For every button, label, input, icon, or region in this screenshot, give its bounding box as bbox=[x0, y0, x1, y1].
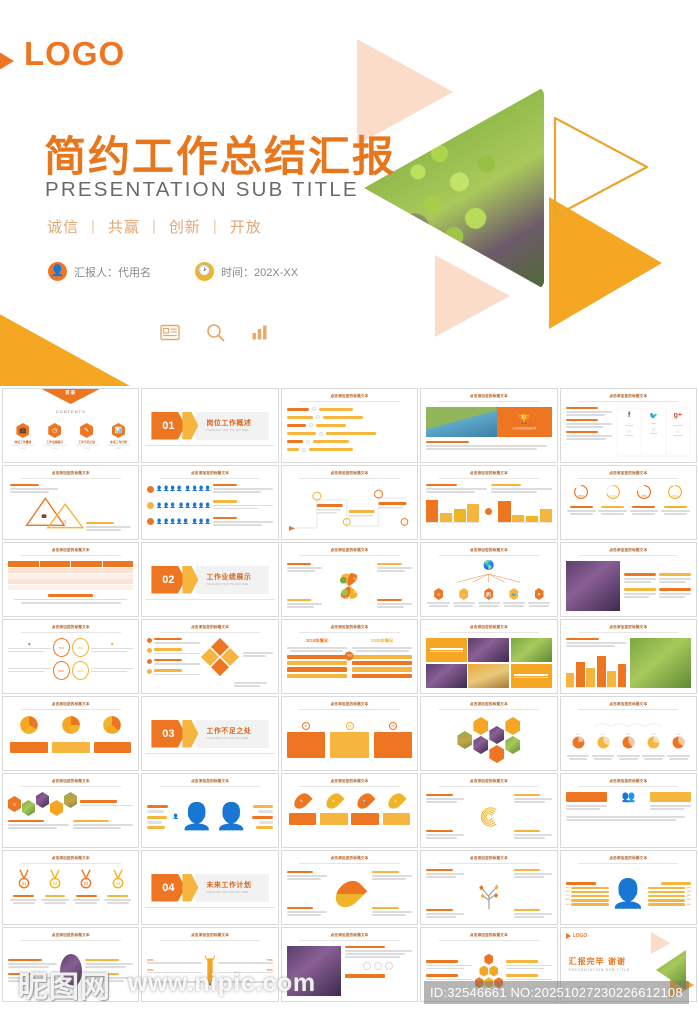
body-compare: 👤 👤 👤 bbox=[147, 792, 272, 842]
thumb-hex-stair[interactable]: 点击添加您的标题文本 ☰ bbox=[2, 773, 139, 848]
section-title: 未来工作计划 bbox=[206, 880, 268, 890]
hero-slide: LOGO 简约工作总结汇报 PRESENTATION SUB TITLE 诚信 … bbox=[0, 0, 699, 386]
search-icon bbox=[206, 323, 225, 342]
fan-connectors bbox=[426, 574, 551, 583]
thumb-oval-percents[interactable]: 点击添加您的标题文本 ▼ 71% 15% ▼ 50% 60% bbox=[2, 619, 139, 694]
section-panel: 工作业绩展示 PLEASE ADD YOUR TITLE TEXT HERE bbox=[196, 566, 268, 594]
pale-triangle-bottom bbox=[435, 255, 510, 337]
divider-rule bbox=[145, 445, 274, 446]
percent-label: 54% bbox=[687, 895, 691, 897]
grape-bullets bbox=[566, 561, 691, 611]
thumb-table[interactable]: 点击添加您的标题文本 bbox=[2, 542, 139, 617]
spiral-diagram bbox=[426, 792, 551, 842]
thumb-globe-fan[interactable]: 点击添加您的标题文本 🌎 ☰ ☼ 📊 🐦 ⚑ bbox=[420, 542, 557, 617]
year-timeline: 2016 2017 2018 2019 2020 bbox=[566, 715, 691, 765]
toc-items: 💼 岗位工作概述 PLEASE ADD YOUR TEXT HERE ◷ 工作业… bbox=[7, 423, 134, 450]
chart-icon: 📊 bbox=[112, 423, 125, 438]
toc-banner-label: 目录 bbox=[65, 390, 76, 404]
percent-label: 50% bbox=[566, 904, 570, 906]
slogan-1: 诚信 bbox=[47, 216, 79, 237]
grape-photo bbox=[566, 561, 620, 611]
thumb-grape-text[interactable]: 点击添加您的标题文本 bbox=[281, 927, 418, 1002]
svg-text:🛒: 🛒 bbox=[63, 519, 68, 524]
toc-item[interactable]: ◷ 工作业绩展示 PLEASE ADD YOUR TEXT HERE bbox=[41, 423, 69, 450]
toc-item[interactable]: ✎ 工作不足之处 PLEASE ADD YOUR TEXT HERE bbox=[73, 423, 101, 450]
hex-pyramid bbox=[426, 946, 551, 996]
slogan-separator: | bbox=[152, 218, 157, 235]
slide-title: 点击添加您的标题文本 bbox=[561, 394, 696, 402]
globe-fan: 🌎 ☰ ☼ 📊 🐦 ⚑ bbox=[426, 561, 551, 611]
pencil-icon bbox=[204, 954, 216, 988]
slogan-2: 共赢 bbox=[108, 216, 140, 237]
toc-item-label: 未来工作计划 bbox=[104, 440, 132, 444]
presenter-label: 汇报人：代用名 bbox=[74, 264, 151, 280]
slide-title: 点击添加您的标题文本 bbox=[282, 779, 417, 787]
social-cards: f Facebook w Linked In 🐦 Twitter w Pinte… bbox=[566, 407, 691, 457]
divider-rule bbox=[145, 907, 274, 908]
thankyou-subtitle: PRESENTATION SUB TITLE bbox=[569, 968, 631, 972]
photo-mosaic bbox=[426, 638, 551, 688]
people-rows: 👤👤👤👤 👤👤👤👤 👤👤👤 👤👤👤👤👤 👤👤👤👤👤 bbox=[147, 484, 272, 534]
left-triangle-accent bbox=[0, 44, 14, 78]
slide-title: 点击添加您的标题文本 bbox=[421, 779, 556, 787]
thumb-meeting[interactable]: 点击添加您的标题文本 👥 bbox=[560, 773, 697, 848]
section-divider: 03 工作不足之处 PLEASE ADD YOUR TITLE TEXT HER… bbox=[147, 709, 272, 758]
medal-number: 04 bbox=[115, 881, 120, 886]
step-badge: 02 bbox=[346, 722, 354, 730]
toc-banner: 目录 bbox=[40, 388, 102, 404]
svg-text:01: 01 bbox=[341, 584, 345, 588]
donut-value: 96% bbox=[661, 494, 690, 498]
slide-title: 点击添加您的标题文本 bbox=[421, 548, 556, 556]
pie-chart bbox=[572, 736, 585, 749]
photo-panel: 🏆 点击添加您的标题文本 bbox=[426, 407, 551, 457]
facebook-icon[interactable]: f bbox=[618, 412, 640, 419]
toc-item-sub: PLEASE ADD YOUR TEXT HERE bbox=[104, 445, 132, 450]
slide-title: 点击添加您的标题文本 bbox=[421, 471, 556, 479]
hex-icon: ☰ bbox=[434, 588, 443, 600]
slide-title: 点击添加您的标题文本 bbox=[561, 779, 696, 787]
medal-icon: 02 bbox=[48, 869, 62, 889]
big-leaf-diagram bbox=[287, 869, 412, 919]
vs-left-title: 2019年情况 bbox=[287, 638, 347, 644]
slide-title: 点击添加您的标题文本 bbox=[3, 471, 138, 479]
thumb-pencil[interactable]: 点击添加您的标题文本 80%65%40% 75%55%30% bbox=[141, 927, 278, 1002]
slogan-separator: | bbox=[91, 218, 96, 235]
timeline-path bbox=[287, 484, 412, 534]
thumb-tree[interactable]: 点击添加您的标题文本 bbox=[420, 850, 557, 925]
oval-percents: ▼ 71% 15% ▼ 50% 60% bbox=[8, 638, 133, 688]
thumb-leaf-markers[interactable]: 点击添加您的标题文本 ✎ ✦ 🔍 ☀ bbox=[281, 773, 418, 848]
body-silhouette-icon: 👤 bbox=[173, 814, 179, 820]
thumb-puzzle[interactable]: 点击添加您的标题文本 bbox=[141, 619, 278, 694]
leaf-icon: ✦ bbox=[323, 790, 344, 811]
leaf-icon: 🔍 bbox=[355, 790, 376, 811]
section-panel: 岗位工作概述 PLEASE ADD YOUR TITLE TEXT HERE bbox=[196, 412, 268, 440]
hero-icon-row bbox=[160, 323, 270, 342]
photo-caption: 点击添加您的标题文本 bbox=[512, 426, 536, 430]
vine-photo bbox=[511, 638, 552, 662]
grape-hex-photo bbox=[473, 736, 488, 754]
thumb-photo-mosaic[interactable]: 点击添加您的标题文本 bbox=[420, 619, 557, 694]
section-number: 04 bbox=[151, 874, 185, 902]
person-silhouette-icon: 👤 bbox=[611, 886, 646, 903]
donut-value: 78% bbox=[630, 494, 659, 498]
hex-icon: ⚑ bbox=[535, 588, 544, 600]
slogan-row: 诚信 | 共赢 | 创新 | 开放 bbox=[47, 216, 262, 237]
slide-thumbnail-grid: 目录 CONTENTS 💼 岗位工作概述 PLEASE ADD YOUR TEX… bbox=[0, 386, 699, 1004]
globe-icon: 🌎 bbox=[426, 561, 551, 570]
slide-title: 点击添加您的标题文本 bbox=[561, 856, 696, 864]
toc-item[interactable]: 📊 未来工作计划 PLEASE ADD YOUR TEXT HERE bbox=[104, 423, 132, 450]
slide-title: 点击添加您的标题文本 bbox=[3, 856, 138, 864]
section-divider: 01 岗位工作概述 PLEASE ADD YOUR TITLE TEXT HER… bbox=[147, 401, 272, 450]
oval-percent: 50% bbox=[53, 661, 70, 680]
percent-label: 35% bbox=[566, 891, 570, 893]
thumb-oval-photo[interactable]: 点击添加您的标题文本 bbox=[2, 927, 139, 1002]
thumb-pinwheel[interactable]: 点击添加您的标题文本 02 01 03 04 bbox=[281, 542, 418, 617]
toc-item[interactable]: 💼 岗位工作概述 PLEASE ADD YOUR TEXT HERE bbox=[9, 423, 37, 450]
oval-percent: 15% bbox=[72, 638, 89, 657]
section-number: 02 bbox=[151, 566, 185, 594]
thumb-body-percent[interactable]: 点击添加您的标题文本 60% 35% 71% 40% 50% 👤 bbox=[560, 850, 697, 925]
thumb-hex-cluster[interactable]: 点击添加您的标题文本 bbox=[420, 696, 557, 771]
meeting-scene: 👥 bbox=[566, 792, 691, 842]
leaf-icon bbox=[331, 876, 368, 913]
twin-bar-charts bbox=[426, 484, 551, 534]
pie-chart bbox=[672, 736, 685, 749]
toc-item-label: 岗位工作概述 bbox=[9, 440, 37, 444]
clock-icon: ◷ bbox=[48, 423, 61, 438]
thumb-hex-pyramid[interactable]: 点击添加您的标题文本 bbox=[420, 927, 557, 1002]
social-label: Linked In bbox=[618, 435, 640, 437]
medal-icon: 04 bbox=[111, 869, 125, 889]
leaf-icon: ✎ bbox=[292, 790, 313, 811]
thumb-big-leaf[interactable]: 点击添加您的标题文本 bbox=[281, 850, 418, 925]
grape-oval-photo bbox=[60, 954, 82, 988]
thumb-section-04[interactable]: 04 未来工作计划 PLEASE ADD YOUR TITLE TEXT HER… bbox=[141, 850, 278, 925]
section-title: 工作业绩展示 bbox=[206, 572, 268, 582]
data-table bbox=[8, 561, 133, 611]
vine-hex-photo bbox=[505, 736, 520, 754]
thumb-bars-photo[interactable]: 点击添加您的标题文本 bbox=[560, 619, 697, 694]
slide-title: 点击添加您的标题文本 bbox=[421, 933, 556, 941]
toc-item-sub: PLEASE ADD YOUR TEXT HERE bbox=[9, 445, 37, 450]
step-badge: 01 bbox=[302, 722, 310, 730]
slide-title: 点击添加您的标题文本 bbox=[421, 702, 556, 710]
thumb-spiral[interactable]: 点击添加您的标题文本 bbox=[420, 773, 557, 848]
tree-diagram bbox=[426, 869, 551, 919]
section-title: 岗位工作概述 bbox=[206, 418, 268, 428]
divider-rule bbox=[145, 599, 274, 600]
social-label: Instagram bbox=[667, 435, 689, 437]
thumb-medals[interactable]: 点击添加您的标题文本 01 02 03 bbox=[2, 850, 139, 925]
pie-chart bbox=[647, 736, 660, 749]
field-hex-photo bbox=[457, 731, 472, 749]
bar-chart-icon bbox=[251, 324, 270, 341]
pie-chart bbox=[622, 736, 635, 749]
briefcase-icon: 💼 bbox=[16, 423, 29, 438]
percent-label: 40% bbox=[566, 899, 570, 901]
pinwheel-diagram: 02 01 03 04 bbox=[287, 561, 412, 611]
medal-number: 03 bbox=[84, 881, 89, 886]
thumb-pie-charts[interactable]: 点击添加您的标题文本 bbox=[2, 696, 139, 771]
meeting-icon: 👥 bbox=[610, 792, 647, 811]
section-panel: 未来工作计划 PLEASE ADD YOUR TITLE TEXT HERE bbox=[196, 874, 268, 902]
puzzle-pieces bbox=[199, 636, 241, 678]
thumb-thankyou[interactable]: LOGO 汇报完毕 谢谢 PRESENTATION SUB TITLE 诚 信 … bbox=[560, 927, 697, 1002]
thumb-triangles[interactable]: 点击添加您的标题文本 💼 🛒 bbox=[2, 465, 139, 540]
pencil-infographic: 80%65%40% 75%55%30% bbox=[147, 946, 272, 996]
section-subtitle: PLEASE ADD YOUR TITLE TEXT HERE bbox=[206, 738, 268, 741]
vineyard-photo bbox=[630, 638, 691, 688]
percent-label: 90% bbox=[687, 904, 691, 906]
bottom-left-wedge bbox=[0, 294, 130, 386]
hex-icon: 📊 bbox=[484, 588, 493, 600]
section-number: 01 bbox=[151, 412, 185, 440]
pie-chart bbox=[102, 715, 122, 735]
page-subtitle: PRESENTATION SUB TITLE bbox=[45, 178, 359, 202]
thumb-percent-donuts[interactable]: 点击添加您的标题文本 85% 71% 78% bbox=[560, 465, 697, 540]
medal-icon: 03 bbox=[79, 869, 93, 889]
body-percent-chart: 60% 35% 71% 40% 50% 👤 80% 66% bbox=[566, 869, 691, 919]
medals-row: 01 02 03 04 bbox=[8, 869, 133, 919]
slide-title: 点击添加您的标题文本 bbox=[421, 856, 556, 864]
oval-percent: 60% bbox=[72, 661, 89, 680]
percent-donuts: 85% 71% 78% 96% bbox=[566, 484, 691, 534]
pie-charts bbox=[8, 715, 133, 765]
section-number: 03 bbox=[151, 720, 185, 748]
thumb-zigzag-timeline[interactable]: 点击添加您的标题文本 bbox=[281, 465, 418, 540]
puzzle-diagram bbox=[147, 638, 272, 688]
hex-icon: 🐦 bbox=[509, 588, 518, 600]
thankyou-slide: LOGO 汇报完毕 谢谢 PRESENTATION SUB TITLE 诚 信 … bbox=[561, 928, 696, 1001]
slide-title: 点击添加您的标题文本 bbox=[561, 702, 696, 710]
slogan-3: 创新 bbox=[169, 216, 201, 237]
sunset-photo bbox=[468, 664, 509, 688]
pie-chart bbox=[19, 715, 39, 735]
slide-title: 点击添加您的标题文本 bbox=[282, 702, 417, 710]
numbered-panels: 01 02 03 bbox=[287, 715, 412, 765]
hex-staircase: ☰ bbox=[8, 792, 133, 842]
grape-text-layout bbox=[287, 946, 412, 996]
page-title: 简约工作总结汇报 bbox=[44, 123, 396, 184]
slide-title: 点击添加您的标题文本 bbox=[282, 471, 417, 479]
bar-list bbox=[287, 407, 412, 457]
trophy-icon: 🏆 bbox=[519, 415, 530, 424]
date-meta: 🕑 时间：202X-XX bbox=[195, 262, 298, 281]
slide-title: 点击添加您的标题文本 bbox=[282, 394, 417, 402]
toc-item-label: 工作不足之处 bbox=[73, 440, 101, 444]
slide-title: 点击添加您的标题文本 bbox=[142, 471, 277, 479]
divider-rule bbox=[145, 753, 274, 754]
slide-title: 点击添加您的标题文本 bbox=[282, 856, 417, 864]
toc-item-label: 工作业绩展示 bbox=[41, 440, 69, 444]
bars-photo bbox=[566, 638, 691, 688]
section-subtitle: PLEASE ADD YOUR TITLE TEXT HERE bbox=[206, 892, 268, 895]
medal-icon: 01 bbox=[17, 869, 31, 889]
percent-label: 71% bbox=[566, 895, 570, 897]
document-icon bbox=[160, 324, 180, 341]
slide-title: 点击添加您的标题文本 bbox=[282, 933, 417, 941]
vine-hex-photo bbox=[22, 800, 35, 816]
section-divider: 04 未来工作计划 PLEASE ADD YOUR TITLE TEXT HER… bbox=[147, 863, 272, 912]
donut-value: 71% bbox=[598, 494, 627, 498]
slide-title: 点击添加您的标题文本 bbox=[561, 548, 696, 556]
section-subtitle: PLEASE ADD YOUR TITLE TEXT HERE bbox=[206, 584, 268, 587]
leaf-markers: ✎ ✦ 🔍 ☀ bbox=[287, 792, 412, 842]
presenter-meta: 👤 汇报人：代用名 bbox=[48, 262, 151, 281]
hex-icon: ☰ bbox=[8, 796, 21, 812]
medal-number: 02 bbox=[53, 881, 58, 886]
svg-text:04: 04 bbox=[346, 596, 350, 600]
slide-title: 点击添加您的标题文本 bbox=[3, 625, 138, 633]
meta-row: 👤 汇报人：代用名 🕑 时间：202X-XX bbox=[48, 262, 298, 281]
slide-title: 点击添加您的标题文本 bbox=[142, 625, 277, 633]
logo[interactable]: LOGO bbox=[24, 37, 125, 70]
pale-triangle-accent bbox=[651, 932, 670, 954]
thumb-social-cards[interactable]: 点击添加您的标题文本 f Facebook w Linked In bbox=[560, 388, 697, 463]
thumb-photo-panel[interactable]: 点击添加您的标题文本 🏆 点击添加您的标题文本 bbox=[420, 388, 557, 463]
slide-title: 点击添加您的标题文本 bbox=[142, 933, 277, 941]
hex-icon: ☼ bbox=[459, 588, 468, 600]
svg-text:03: 03 bbox=[354, 589, 358, 593]
donut-value: 85% bbox=[567, 494, 596, 498]
slide-title: 点击添加您的标题文本 bbox=[421, 394, 556, 402]
triangle-diagram: 💼 🛒 bbox=[8, 484, 133, 534]
pie-chart bbox=[597, 736, 610, 749]
edit-icon: ✎ bbox=[80, 423, 93, 438]
toc-item-sub: PLEASE ADD YOUR TEXT HERE bbox=[73, 445, 101, 450]
slogan-4: 开放 bbox=[230, 216, 262, 237]
social-label: Pinterest bbox=[642, 433, 664, 435]
social-label: Twitter bbox=[642, 423, 664, 425]
vs-compare: 2019年情况 VS 2020年情况 bbox=[287, 638, 412, 688]
page-root: LOGO 简约工作总结汇报 PRESENTATION SUB TITLE 诚信 … bbox=[0, 0, 699, 1024]
oval-photo-layout bbox=[8, 946, 133, 996]
slide-title: 点击添加您的标题文本 bbox=[3, 548, 138, 556]
thumb-body-compare[interactable]: 点击添加您的标题文本 👤 👤 👤 bbox=[141, 773, 278, 848]
section-divider: 02 工作业绩展示 PLEASE ADD YOUR TITLE TEXT HER… bbox=[147, 555, 272, 604]
thumb-grape-bullets[interactable]: 点击添加您的标题文本 bbox=[560, 542, 697, 617]
slide-title: 点击添加您的标题文本 bbox=[561, 471, 696, 479]
leaf-icon: ☀ bbox=[386, 790, 407, 811]
slide-title: 点击添加您的标题文本 bbox=[142, 779, 277, 787]
slide-title: 点击添加您的标题文本 bbox=[561, 625, 696, 633]
thankyou-title: 汇报完毕 谢谢 bbox=[569, 956, 626, 967]
thumb-twin-bars[interactable]: 点击添加您的标题文本 bbox=[420, 465, 557, 540]
grape-photo bbox=[287, 946, 341, 996]
thumb-numbered-panels[interactable]: 点击添加您的标题文本 01 02 03 bbox=[281, 696, 418, 771]
svg-text:💼: 💼 bbox=[42, 513, 47, 518]
section-subtitle: PLEASE ADD YOUR TITLE TEXT HERE bbox=[206, 430, 268, 433]
social-label: Google Plus bbox=[667, 425, 689, 427]
field-hex-photo bbox=[64, 792, 77, 808]
slogan-separator: | bbox=[213, 218, 218, 235]
slide-title: 点击添加您的标题文本 bbox=[3, 702, 138, 710]
thumb-people-rows[interactable]: 点击添加您的标题文本 👤👤👤👤 👤👤👤👤 👤👤👤 👤👤👤👤👤 bbox=[141, 465, 278, 540]
marker-icon: ▼ bbox=[91, 642, 134, 648]
section-panel: 工作不足之处 PLEASE ADD YOUR TITLE TEXT HERE bbox=[196, 720, 268, 748]
thumb-vs-compare[interactable]: 点击添加您的标题文本 2019年情况 VS 2020年情况 bbox=[281, 619, 418, 694]
thankyou-slogan: 诚 信 ｜ 共 赢 bbox=[579, 986, 615, 990]
pinwheel-petals: 02 01 03 04 bbox=[331, 569, 367, 603]
thumb-contents[interactable]: 目录 CONTENTS 💼 岗位工作概述 PLEASE ADD YOUR TEX… bbox=[2, 388, 139, 463]
body-silhouette-icon: 👤 bbox=[215, 809, 247, 825]
percent-label: 30% bbox=[687, 899, 691, 901]
person-icon: 👤 bbox=[48, 262, 67, 281]
marker-icon: ▼ bbox=[8, 642, 51, 648]
pie-chart bbox=[61, 715, 81, 735]
toc-item-sub: PLEASE ADD YOUR TEXT HERE bbox=[41, 445, 69, 450]
slide-title: 点击添加您的标题文本 bbox=[3, 933, 138, 941]
vs-badge: VS bbox=[345, 651, 354, 660]
vs-right-title: 2020年情况 bbox=[352, 638, 412, 644]
outline-triangle bbox=[549, 108, 653, 226]
step-badge: 03 bbox=[389, 722, 397, 730]
tree-icon bbox=[475, 878, 503, 910]
svg-text:02: 02 bbox=[354, 577, 358, 581]
grape-hex-photo bbox=[489, 726, 504, 744]
slide-title: 点击添加您的标题文本 bbox=[421, 625, 556, 633]
slide-title: 点击添加您的标题文本 bbox=[282, 548, 417, 556]
thumb-section-02[interactable]: 02 工作业绩展示 PLEASE ADD YOUR TITLE TEXT HER… bbox=[141, 542, 278, 617]
percent-label: 60% bbox=[566, 887, 570, 889]
grape-hex-photo bbox=[36, 792, 49, 808]
toc-english: CONTENTS bbox=[3, 409, 138, 414]
google-plus-icon[interactable]: g+ bbox=[667, 412, 689, 419]
clock-icon: 🕑 bbox=[195, 262, 214, 281]
thumb-year-timeline[interactable]: 点击添加您的标题文本 2016 2017 2018 2019 2020 bbox=[560, 696, 697, 771]
percent-label: 66% bbox=[687, 891, 691, 893]
thumb-section-01[interactable]: 01 岗位工作概述 PLEASE ADD YOUR TITLE TEXT HER… bbox=[141, 388, 278, 463]
logo: LOGO bbox=[566, 933, 588, 939]
lake-photo bbox=[426, 407, 497, 437]
medal-number: 01 bbox=[21, 881, 26, 886]
grape-photo bbox=[426, 664, 467, 688]
twitter-icon[interactable]: 🐦 bbox=[642, 412, 664, 420]
zigzag-timeline bbox=[287, 484, 412, 534]
slide-title: 点击添加您的标题文本 bbox=[3, 779, 138, 787]
oval-percent: 71% bbox=[53, 638, 70, 657]
section-title: 工作不足之处 bbox=[206, 726, 268, 736]
date-label: 时间：202X-XX bbox=[221, 264, 298, 280]
thumb-section-03[interactable]: 03 工作不足之处 PLEASE ADD YOUR TITLE TEXT HER… bbox=[141, 696, 278, 771]
spiral-icon bbox=[474, 802, 504, 832]
hex-cluster bbox=[426, 715, 551, 765]
grape-photo bbox=[468, 638, 509, 662]
body-silhouette-icon: 👤 bbox=[181, 809, 213, 825]
arc-connectors bbox=[566, 721, 691, 728]
slide-title: 点击添加您的标题文本 bbox=[282, 625, 417, 633]
logo-text: LOGO bbox=[24, 37, 125, 70]
social-label: Facebook bbox=[618, 425, 640, 427]
logo-text: LOGO bbox=[573, 933, 588, 939]
percent-label: 80% bbox=[687, 887, 691, 889]
thumb-bar-list[interactable]: 点击添加您的标题文本 bbox=[281, 388, 418, 463]
